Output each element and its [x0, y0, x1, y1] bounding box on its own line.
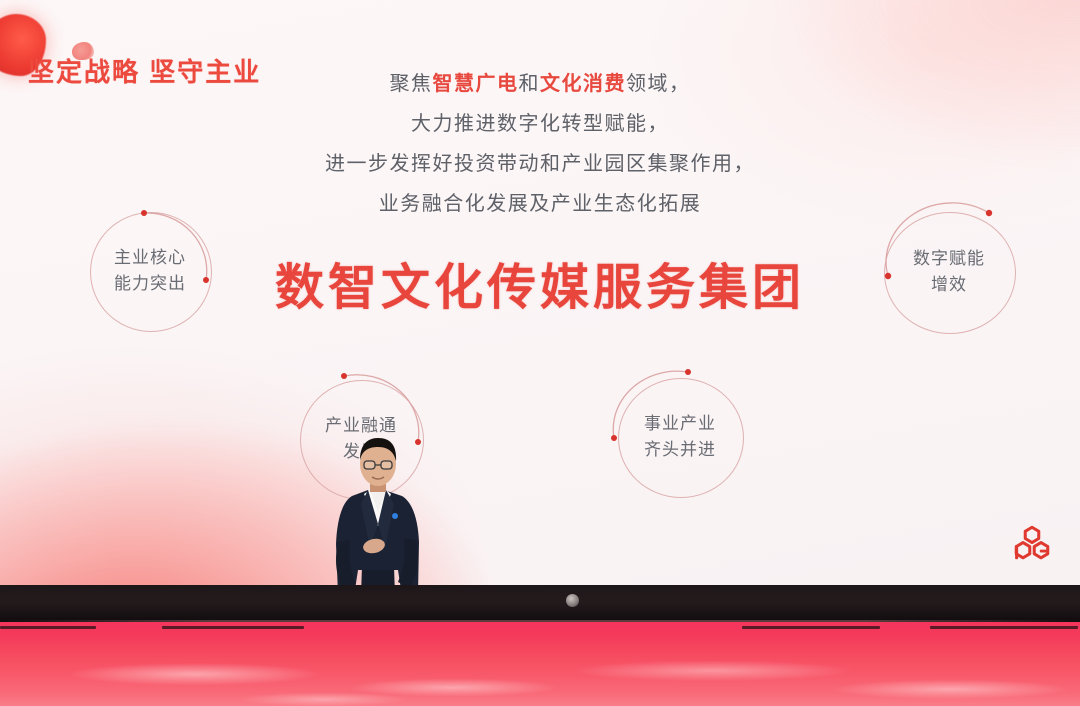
- bubble-digital-enable: 数字赋能 增效: [884, 212, 1014, 332]
- slide-paragraph: 聚焦智慧广电和文化消费领域， 大力推进数字化转型赋能， 进一步发挥好投资带动和产…: [0, 64, 1080, 224]
- pg-corporate-logo-icon: [1012, 525, 1052, 561]
- bubble-label-line-1: 主业核心: [90, 245, 210, 271]
- bubble-label: 主业核心 能力突出: [90, 245, 210, 297]
- screen-bezel: [0, 585, 1080, 622]
- floor-reflections: [0, 622, 1080, 706]
- paragraph-line-2: 大力推进数字化转型赋能，: [0, 104, 1080, 144]
- bubble-label-line-1: 事业产业: [618, 411, 742, 437]
- bubble-parallel-growth: 事业产业 齐头并进: [618, 378, 742, 496]
- line1-highlight-2: 文化消费: [540, 73, 626, 95]
- led-screen: 坚定战略 坚守主业 聚焦智慧广电和文化消费领域， 大力推进数字化转型赋能， 进一…: [0, 0, 1080, 585]
- bubble-label: 事业产业 齐头并进: [618, 411, 742, 463]
- bubble-label-line-2: 能力突出: [90, 271, 210, 297]
- speaker-person: [312, 434, 440, 585]
- line1-highlight-1: 智慧广电: [433, 73, 519, 95]
- stage-lamp: [566, 594, 579, 607]
- line1-pre: 聚焦: [390, 73, 433, 95]
- bubble-label-line-1: 数字赋能: [884, 246, 1014, 272]
- paragraph-line-1: 聚焦智慧广电和文化消费领域，: [0, 64, 1080, 104]
- stage-floor: [0, 622, 1080, 706]
- bubble-core-business: 主业核心 能力突出: [90, 212, 210, 330]
- bubble-label-line-2: 齐头并进: [618, 437, 742, 463]
- bubble-label: 数字赋能 增效: [884, 246, 1014, 298]
- stage-photo: 坚定战略 坚守主业 聚焦智慧广电和文化消费领域， 大力推进数字化转型赋能， 进一…: [0, 0, 1080, 706]
- bubble-label-line-2: 增效: [884, 272, 1014, 298]
- paragraph-line-3: 进一步发挥好投资带动和产业园区集聚作用，: [0, 144, 1080, 184]
- line1-post: 领域，: [626, 73, 691, 95]
- line1-mid: 和: [519, 73, 541, 95]
